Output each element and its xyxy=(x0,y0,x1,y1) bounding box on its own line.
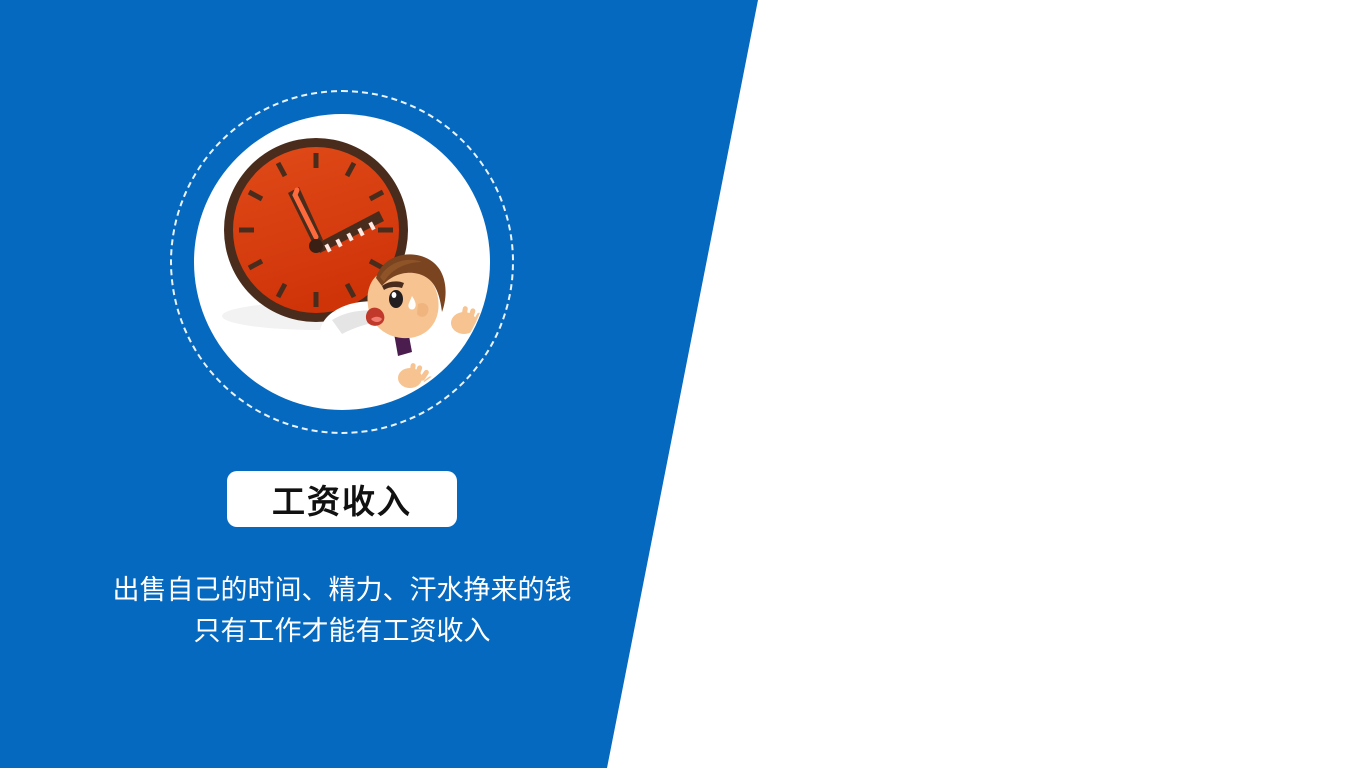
left-column: 工资收入 出售自己的时间、精力、汗水挣来的钱 只有工作才能有工资收入 xyxy=(0,0,684,768)
left-white-disc xyxy=(194,114,490,410)
right-column: $ 100 $ $ $ xyxy=(684,0,1366,768)
left-caption: 出售自己的时间、精力、汗水挣来的钱 只有工作才能有工资收入 xyxy=(42,570,642,652)
left-title-badge[interactable]: 工资收入 xyxy=(227,471,457,527)
left-title-badge-label: 工资收入 xyxy=(272,475,412,523)
slide-root: 工资收入 出售自己的时间、精力、汗水挣来的钱 只有工作才能有工资收入 $ 10 xyxy=(0,0,1366,768)
